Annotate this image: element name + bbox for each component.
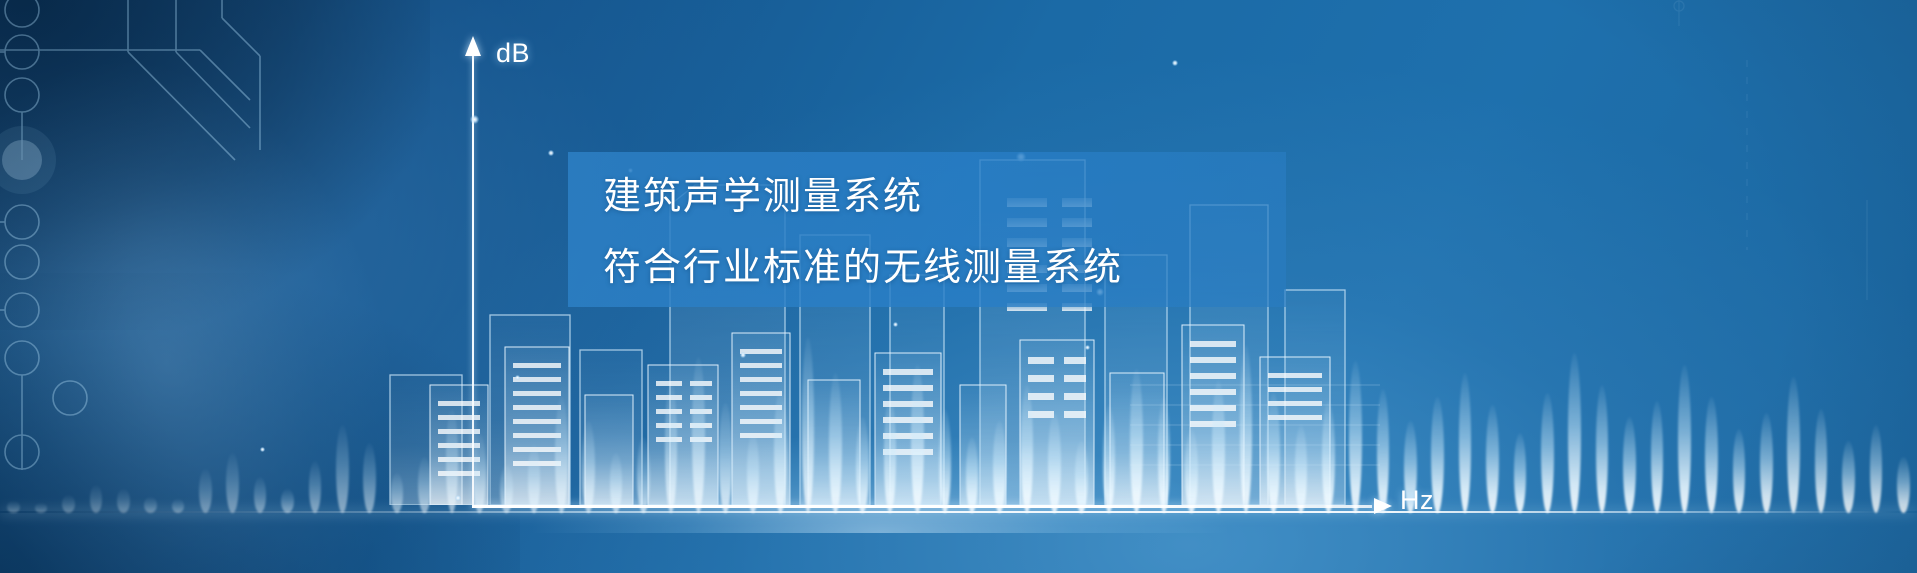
waveform-bar	[1295, 425, 1308, 513]
waveform-bar	[637, 437, 650, 513]
waveform-bar	[1568, 353, 1581, 513]
waveform-bar	[692, 357, 705, 513]
waveform-bar	[1048, 413, 1061, 513]
waveform-bar	[1267, 393, 1280, 513]
waveform-bar	[911, 365, 924, 513]
x-axis-line	[472, 505, 1372, 508]
acoustic-measurement-banner: dB Hz 建筑声学测量系统 符合行业标准的无线测量系统	[0, 0, 1917, 573]
x-axis-label: Hz	[1400, 485, 1434, 516]
waveform-bar	[610, 453, 623, 513]
waveform-bar	[309, 461, 322, 513]
waveform-bar	[1240, 345, 1253, 513]
waveform-bar	[1486, 405, 1499, 513]
waveform-bar	[1897, 457, 1910, 513]
waveform-bar	[281, 489, 294, 513]
waveform-bar	[1870, 425, 1883, 513]
waveform-bar	[993, 421, 1006, 513]
waveform-bar	[747, 433, 760, 513]
waveform-bar	[582, 421, 595, 513]
page-title: 建筑声学测量系统	[603, 178, 1303, 216]
waveform-bar	[966, 437, 979, 513]
waveform-bar	[1842, 441, 1855, 513]
waveform-bar	[1787, 377, 1800, 513]
waveform-bar	[446, 409, 459, 513]
y-axis-line	[472, 52, 474, 507]
waveform-bar	[1130, 369, 1143, 513]
waveform-bar	[226, 453, 239, 513]
waveform-bar	[856, 417, 869, 513]
waveform-bar	[719, 403, 732, 513]
waveform-bar	[254, 477, 267, 513]
waveform-bar	[802, 337, 815, 513]
waveform-bar	[1103, 405, 1116, 513]
waveform-bar	[555, 397, 568, 513]
y-axis-label: dB	[496, 38, 530, 69]
waveform-bar	[665, 381, 678, 513]
waveform-bar	[199, 469, 212, 513]
waveform-bar	[528, 445, 541, 513]
waveform-bar	[774, 389, 787, 513]
waveform-bar	[1075, 441, 1088, 513]
waveform-bar	[1651, 401, 1664, 513]
waveform-bar	[1596, 385, 1609, 513]
headline-text-block: 建筑声学测量系统 符合行业标准的无线测量系统	[603, 178, 1303, 287]
waveform-bar	[90, 485, 103, 513]
waveform-baseline	[0, 511, 1917, 513]
waveform-bar	[1459, 373, 1472, 513]
waveform-bar	[391, 473, 404, 513]
waveform-bar	[1021, 385, 1034, 513]
waveform-bar	[1158, 397, 1171, 513]
waveform-bar	[1815, 409, 1828, 513]
waveform-bar	[363, 443, 376, 513]
x-axis-arrow-icon	[1374, 498, 1392, 514]
waveform-bar	[829, 373, 842, 513]
waveform-bar	[1541, 393, 1554, 513]
waveform-bar	[939, 409, 952, 513]
waveform-bar	[336, 425, 349, 513]
waveform-bar	[1623, 417, 1636, 513]
waveform-bar	[1760, 413, 1773, 513]
page-subtitle: 符合行业标准的无线测量系统	[603, 249, 1303, 287]
waveform-bar	[418, 457, 431, 513]
waveform-bar	[1212, 381, 1225, 513]
waveform-bar	[1705, 397, 1718, 513]
waveform-bar	[117, 489, 130, 513]
waveform-bar	[1322, 401, 1335, 513]
waveform-bar	[1185, 429, 1198, 513]
waveform-bar	[884, 397, 897, 513]
waveform-bar	[1514, 433, 1527, 513]
waveform-bar	[1377, 389, 1390, 513]
waveform-bar	[1349, 361, 1362, 513]
audio-waveform-icon	[0, 313, 1917, 513]
y-axis-arrow-icon	[465, 36, 481, 56]
waveform-bar	[1678, 365, 1691, 513]
waveform-bar	[1733, 429, 1746, 513]
waveform-bar	[473, 433, 486, 513]
